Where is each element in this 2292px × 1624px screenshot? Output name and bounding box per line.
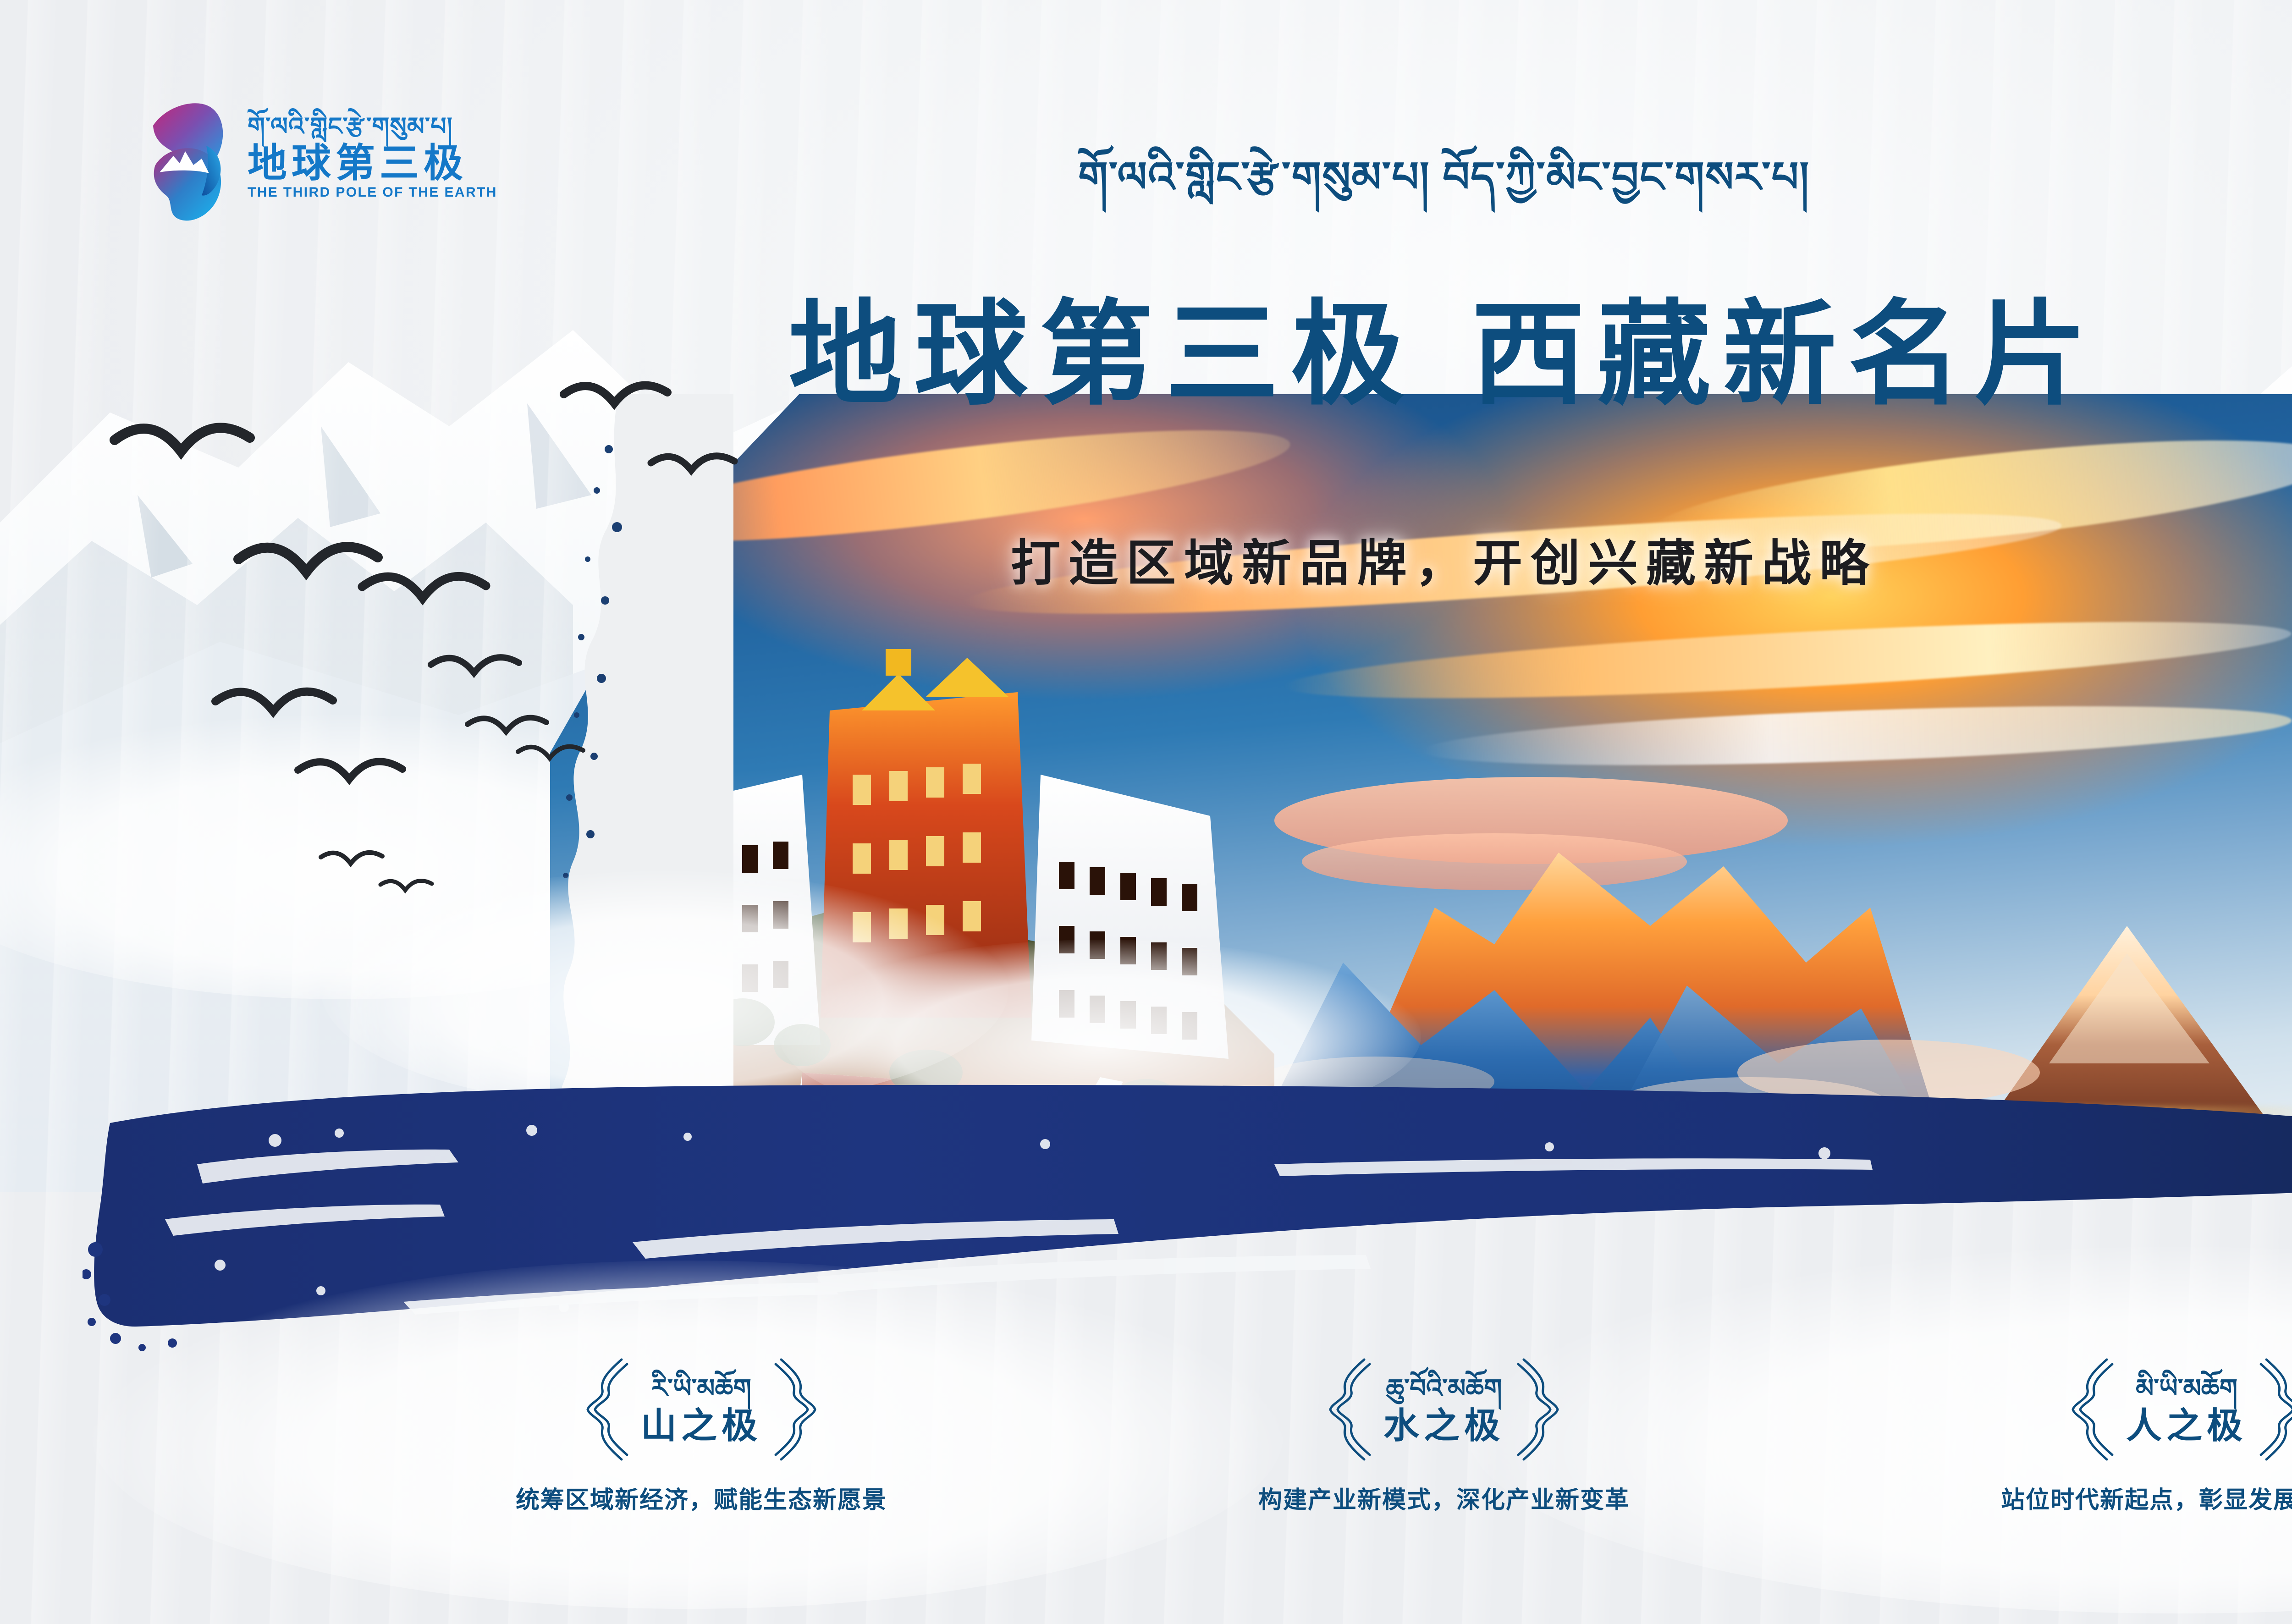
logo-tibetan: གོ་ལའི་གླིང་རྩེ་གསུམ་པ། bbox=[248, 112, 497, 141]
pillar-tibetan: རི་ཡི་མཆོག bbox=[651, 1373, 751, 1404]
pillar-head: མི་ཡི་མཆོག 人之极 bbox=[1916, 1357, 2292, 1462]
header-tibetan-line: གོ་ལའི་གླིང་རྩེ་གསུམ་པ། བོད་ཀྱི་མིང་བྱང་… bbox=[0, 151, 2292, 204]
title-part-1: 地球第三极 bbox=[788, 291, 1416, 418]
pillar-mountain-pole[interactable]: རི་ཡི་མཆོག 山之极 统筹区域新经济，赋能生态新愿景 bbox=[431, 1357, 972, 1514]
bracket-left-icon bbox=[1317, 1357, 1372, 1462]
pillar-chinese: 人之极 bbox=[2126, 1405, 2247, 1447]
bracket-right-icon bbox=[1516, 1357, 1571, 1462]
pillar-tibetan: མི་ཡི་མཆོག bbox=[2136, 1373, 2237, 1404]
bracket-right-icon bbox=[774, 1357, 829, 1462]
pillar-chinese: 水之极 bbox=[1383, 1405, 1504, 1447]
pillar-head: ཆུ་བོའི་མཆོག 水之极 bbox=[1174, 1357, 1714, 1462]
bracket-right-icon bbox=[2259, 1357, 2292, 1462]
bracket-left-icon bbox=[2059, 1357, 2114, 1462]
page-title: 地球第三极西藏新名片 bbox=[0, 293, 2292, 416]
pillar-description: 站位时代新起点，彰显发展新高度 bbox=[2001, 1486, 2292, 1514]
pillar-labels: ཆུ་བོའི་མཆོག 水之极 bbox=[1383, 1373, 1504, 1447]
page-subtitle: 打造区域新品牌，开创兴藏新战略 bbox=[0, 536, 2292, 591]
pillar-labels: མི་ཡི་མཆོག 人之极 bbox=[2126, 1373, 2247, 1447]
pillar-tibetan: ཆུ་བོའི་མཆོག bbox=[1386, 1373, 1502, 1404]
pillar-head: རི་ཡི་མཆོག 山之极 bbox=[431, 1357, 972, 1462]
pillars-row: རི་ཡི་མཆོག 山之极 统筹区域新经济，赋能生态新愿景 bbox=[0, 1357, 2292, 1568]
bracket-left-icon bbox=[574, 1357, 629, 1462]
pillar-description: 构建产业新模式，深化产业新变革 bbox=[1258, 1486, 1630, 1514]
pillar-labels: རི་ཡི་མཆོག 山之极 bbox=[641, 1373, 762, 1447]
poster-root: གོ་ལའི་གླིང་རྩེ་གསུམ་པ། 地球第三极 THE THIRD … bbox=[0, 0, 2292, 1624]
title-part-2: 西藏新名片 bbox=[1471, 291, 2099, 418]
pillar-description: 统筹区域新经济，赋能生态新愿景 bbox=[516, 1486, 887, 1514]
pillar-chinese: 山之极 bbox=[641, 1405, 762, 1447]
navy-brush-band bbox=[83, 1027, 2292, 1384]
pillar-people-pole[interactable]: མི་ཡི་མཆོག 人之极 站位时代新起点，彰显发展新高度 bbox=[1916, 1357, 2292, 1514]
pillar-water-pole[interactable]: ཆུ་བོའི་མཆོག 水之极 构建产业新模式，深化产业新变革 bbox=[1174, 1357, 1714, 1514]
